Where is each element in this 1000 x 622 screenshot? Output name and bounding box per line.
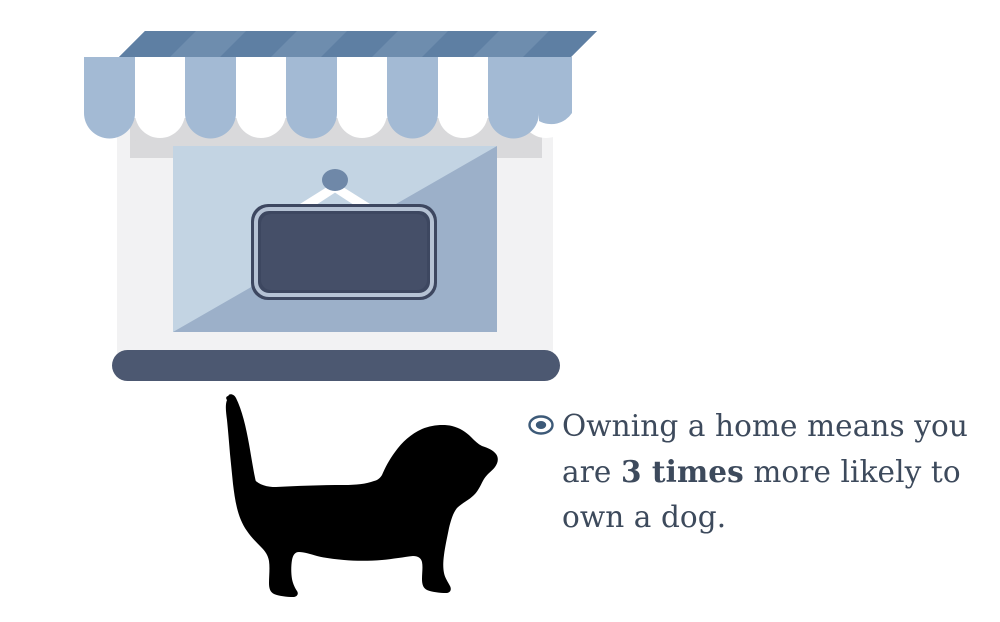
- fact-line-1: Owning a home means you: [562, 409, 968, 443]
- fact-callout: Owning a home means you are 3 times more…: [528, 404, 968, 540]
- fact-line-3: own a dog.: [562, 500, 726, 534]
- dog-silhouette: [196, 392, 506, 607]
- pet-shop-storefront-illustration: [0, 0, 620, 400]
- shop-base: [112, 350, 560, 381]
- sign-face: [261, 214, 427, 290]
- fact-text: Owning a home means you are 3 times more…: [562, 404, 968, 540]
- basset-hound-shape: [226, 396, 498, 597]
- fact-line-2-suffix: more likely to: [744, 455, 961, 489]
- hanging-sign[interactable]: [251, 204, 437, 300]
- fact-line-2-prefix: are: [562, 455, 621, 489]
- fact-emphasis: 3 times: [621, 454, 744, 489]
- sign-knob-icon: [322, 169, 348, 191]
- eye-bullet-icon: [528, 404, 562, 435]
- awning: [84, 31, 597, 139]
- infographic-canvas: Owning a home means you are 3 times more…: [0, 0, 1000, 622]
- awning-front: [84, 57, 572, 139]
